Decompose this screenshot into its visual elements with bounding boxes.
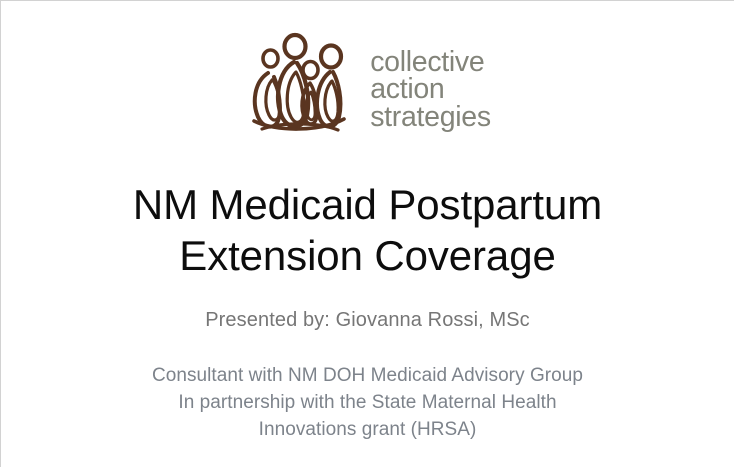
logo-inner: collective action strategies (244, 27, 491, 139)
slide-title-line-1: NM Medicaid Postpartum (41, 179, 694, 230)
logo-wordmark-line-2: action (370, 76, 491, 103)
affiliation-line-2: In partnership with the State Maternal H… (1, 390, 734, 417)
slide-title-line-2: Extension Coverage (41, 230, 694, 281)
slide-title: NM Medicaid Postpartum Extension Coverag… (1, 179, 734, 281)
logo-wordmark-line-1: collective (370, 49, 491, 76)
affiliation-block: Consultant with NM DOH Medicaid Advisory… (1, 363, 734, 444)
collective-action-strategies-figures-icon (244, 27, 356, 139)
presentation-title-slide: collective action strategies NM Medicaid… (0, 0, 734, 467)
presenter-line: Presented by: Giovanna Rossi, MSc (1, 309, 734, 332)
affiliation-line-1: Consultant with NM DOH Medicaid Advisory… (1, 363, 734, 390)
organization-logo: collective action strategies (1, 27, 734, 139)
affiliation-line-3: Innovations grant (HRSA) (1, 417, 734, 444)
logo-wordmark-line-3: strategies (370, 104, 491, 131)
logo-wordmark: collective action strategies (370, 35, 491, 131)
